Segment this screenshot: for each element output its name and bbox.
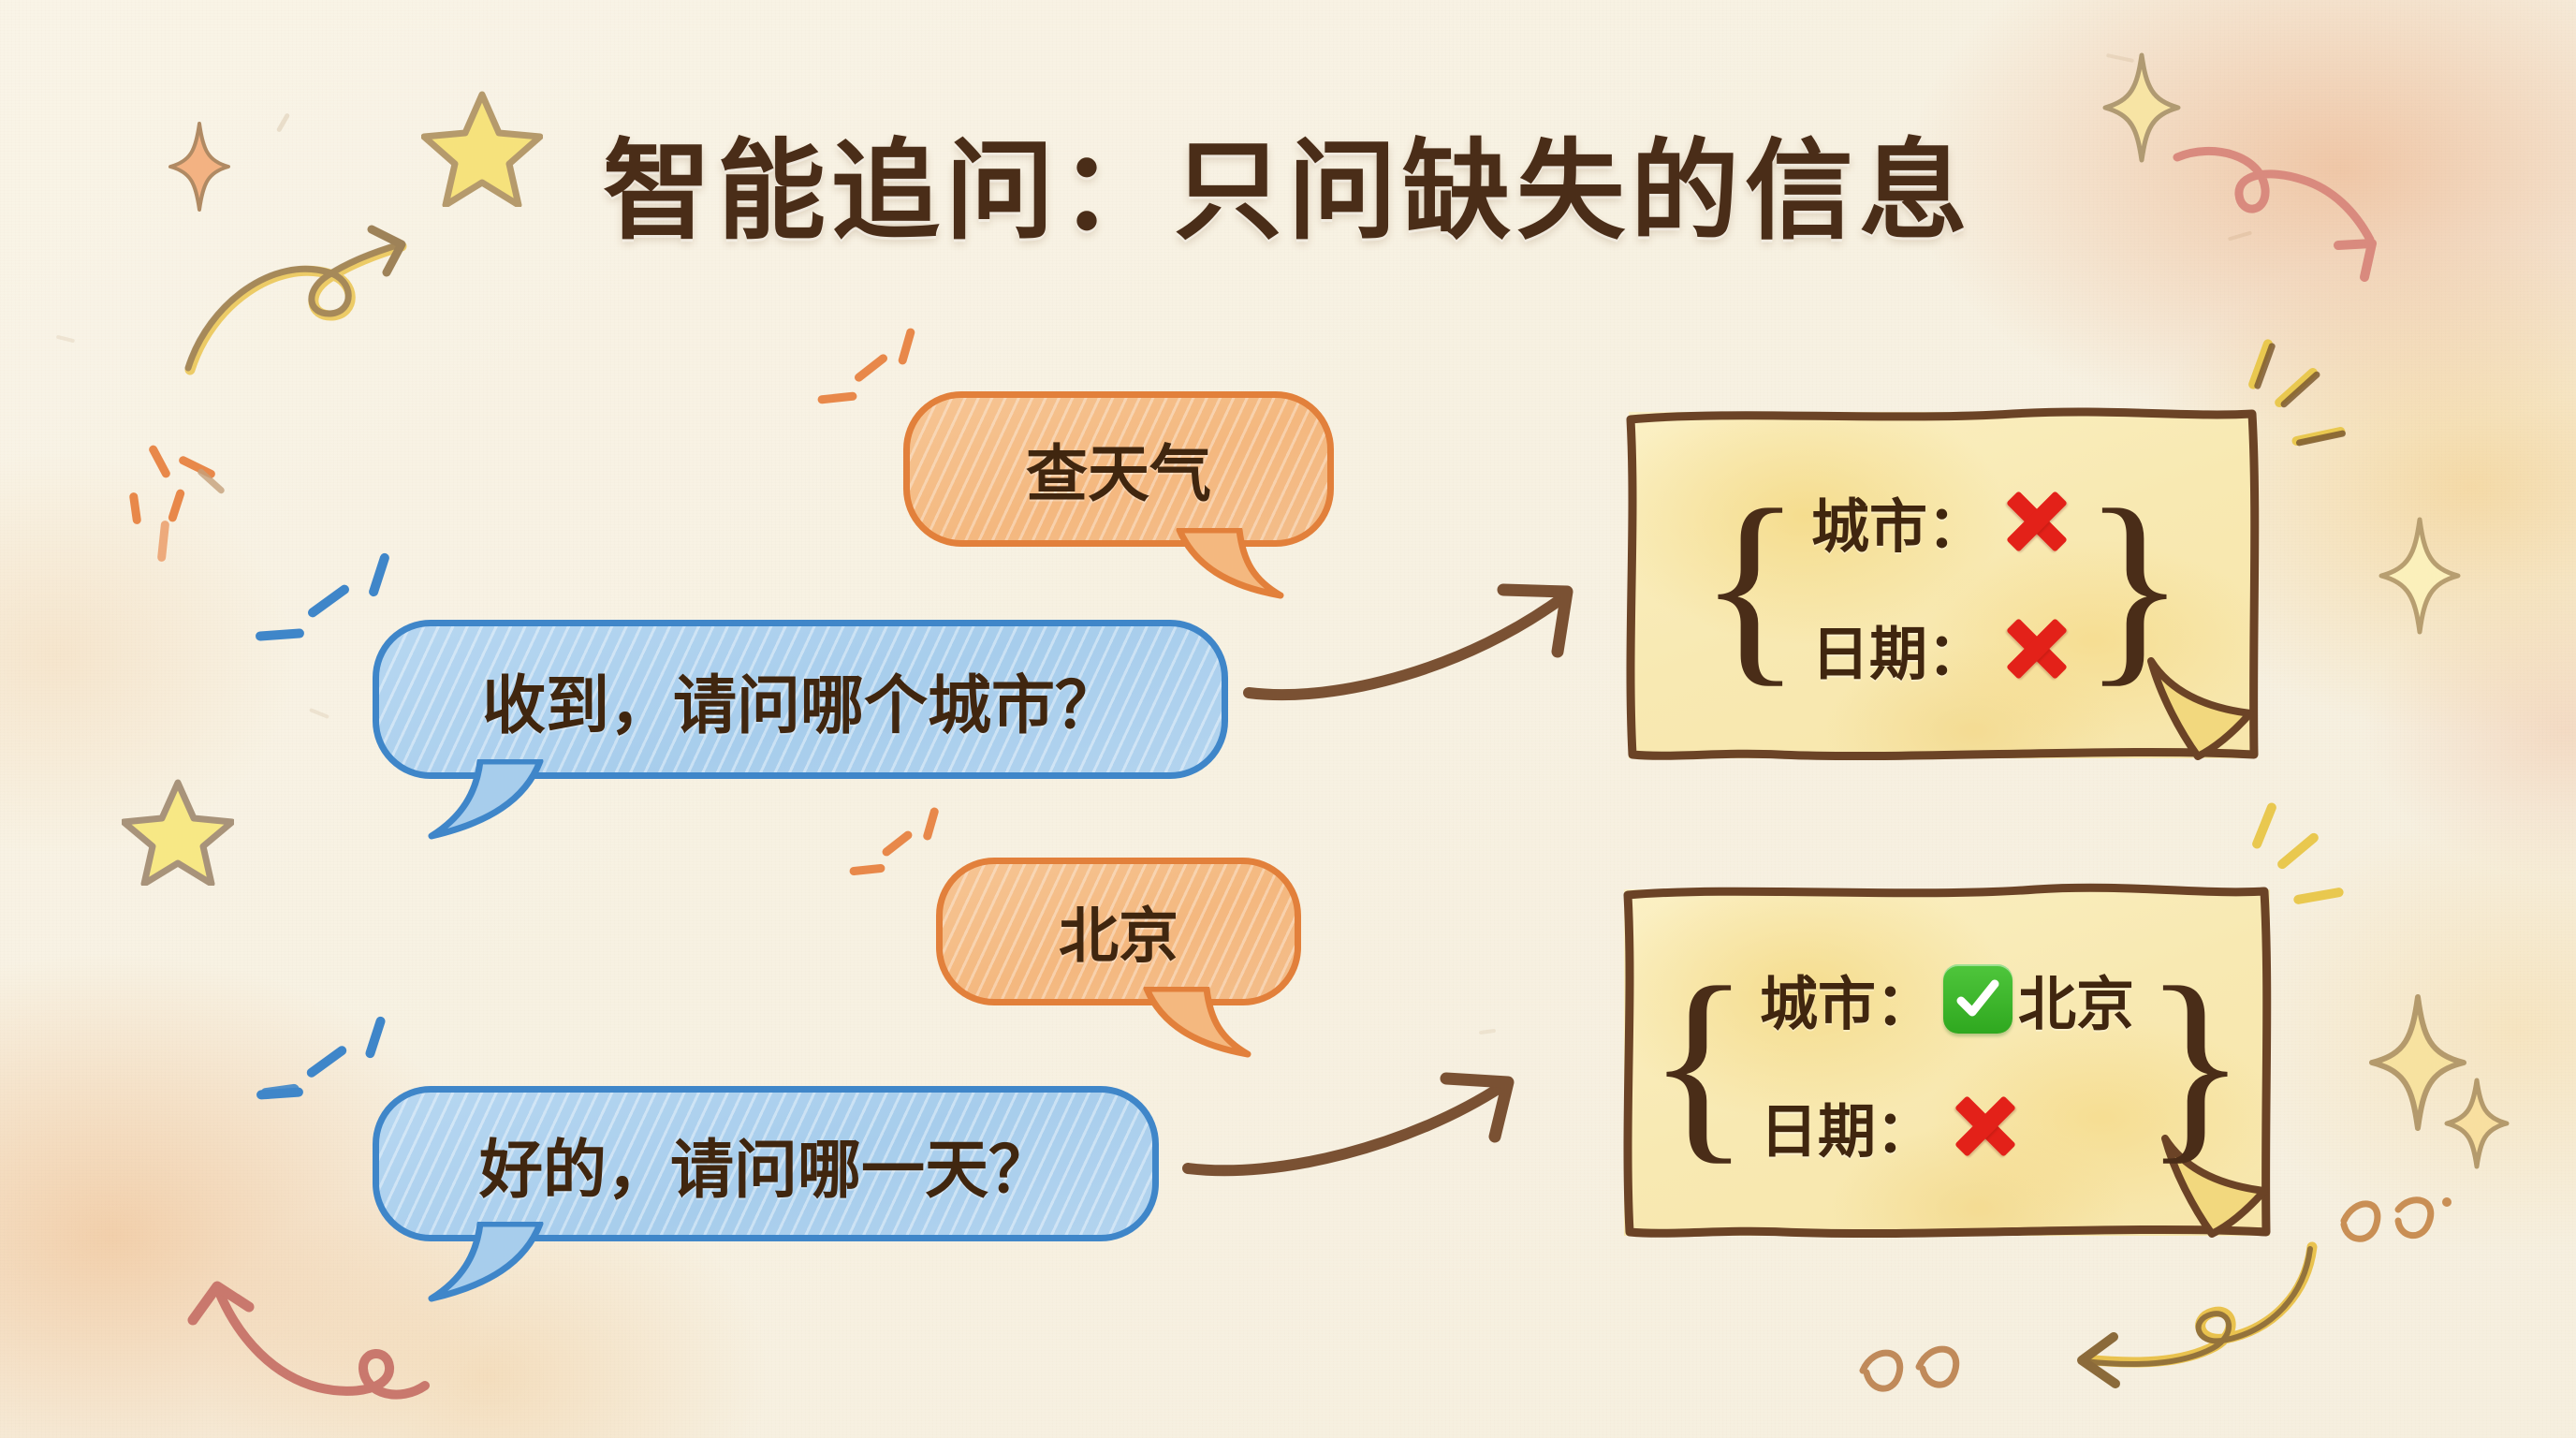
brace-close: } (2144, 978, 2247, 1146)
brace-close: } (2083, 501, 2186, 668)
check-icon (1943, 964, 2012, 1034)
cross-icon (2000, 612, 2073, 685)
brace-open: { (1699, 501, 1802, 668)
page-title: 智能追问：只问缺失的信息 (0, 103, 2576, 260)
slot-label: 日期： (1811, 607, 1985, 691)
slot-state-card-2: { 城市： 北京 日期： } (1624, 889, 2270, 1236)
bubble-text: 查天气 (1026, 424, 1211, 514)
user-message-bubble-1[interactable]: 查天气 (903, 391, 1334, 547)
bubble-tail (428, 759, 549, 840)
bubble-text: 好的，请问哪一天？ (479, 1118, 1052, 1211)
slot-label: 城市： (1760, 957, 1934, 1041)
cross-icon (2000, 485, 2073, 558)
slot-row: 日期： (1811, 607, 2073, 691)
slot-row: 日期： (1760, 1084, 2134, 1168)
bubble-text: 收到，请问哪个城市？ (482, 653, 1119, 746)
bubble-text: 北京 (1059, 888, 1178, 975)
slot-value: 北京 (2018, 957, 2134, 1041)
slot-row: 城市： 北京 (1760, 957, 2134, 1041)
poster-canvas: 智能追问：只问缺失的信息 (0, 0, 2576, 1438)
assistant-message-bubble-1[interactable]: 收到，请问哪个城市？ (373, 620, 1228, 779)
slot-label: 日期： (1760, 1084, 1934, 1168)
bubble-tail (1141, 987, 1253, 1058)
slot-state-card-1: { 城市： 日期： } (1629, 412, 2256, 758)
slot-label: 城市： (1811, 479, 1985, 564)
bubble-tail (1174, 528, 1286, 599)
cross-icon (1949, 1090, 2022, 1163)
user-message-bubble-2[interactable]: 北京 (936, 858, 1301, 1005)
slot-row: 城市： (1811, 479, 2073, 564)
assistant-message-bubble-2[interactable]: 好的，请问哪一天？ (373, 1086, 1159, 1241)
brace-open: { (1647, 978, 1750, 1146)
bubble-tail (428, 1222, 549, 1302)
